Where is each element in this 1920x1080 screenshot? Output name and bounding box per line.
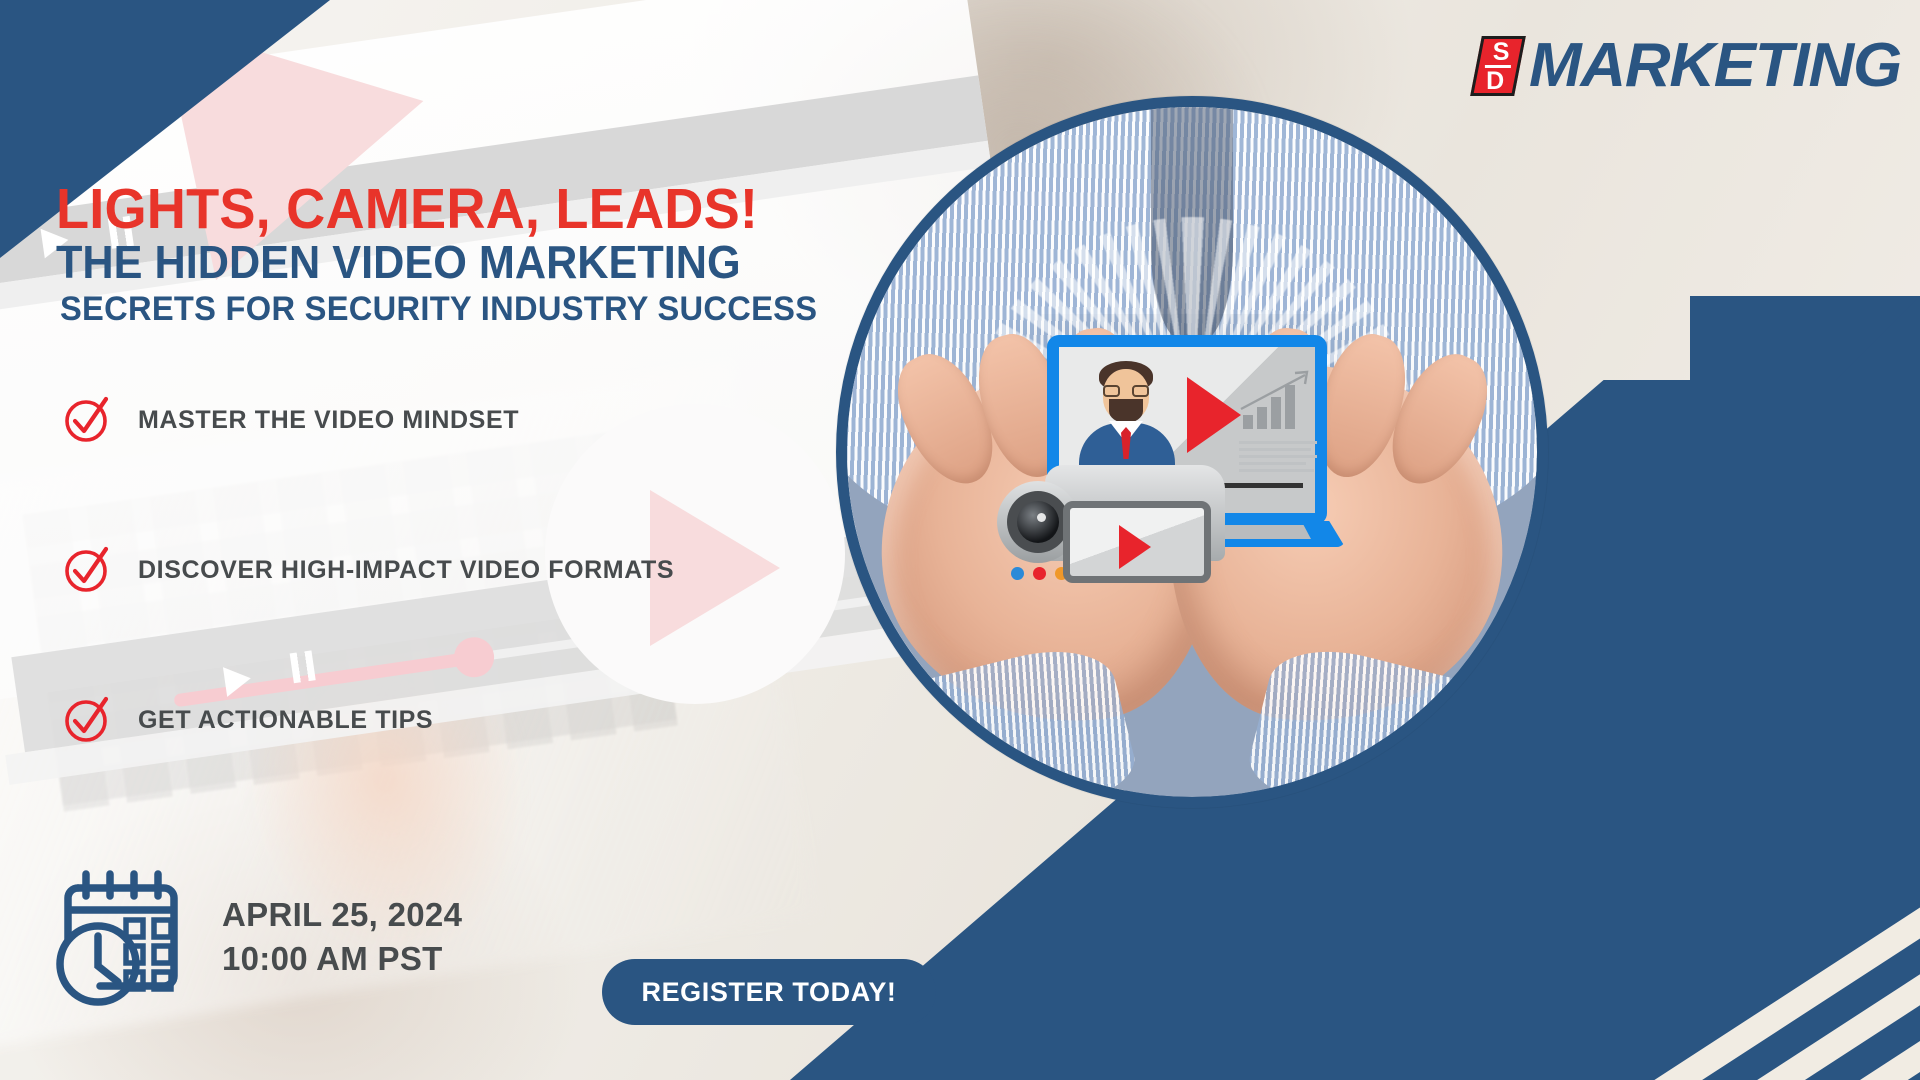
event-time: 10:00 AM PST	[222, 937, 462, 981]
headline-secondary: THE HIDDEN VIDEO MARKETING	[56, 239, 741, 285]
event-datetime: APRIL 25, 2024 10:00 AM PST	[48, 862, 462, 1012]
list-item-label: MASTER THE VIDEO MINDSET	[138, 406, 519, 435]
badge-letter-bottom: D	[1487, 68, 1505, 92]
brand-wordmark: MARKETING	[1529, 30, 1901, 101]
register-button[interactable]: REGISTER TODAY!	[602, 959, 936, 1025]
list-item-label: GET ACTIONABLE TIPS	[138, 706, 433, 735]
headline-primary: LIGHTS, CAMERA, LEADS!	[56, 181, 758, 238]
camcorder-button-blue	[1011, 567, 1024, 580]
calendar-clock-icon	[48, 862, 198, 1012]
hero-circle-frame	[836, 96, 1548, 808]
list-item: DISCOVER HIGH-IMPACT VIDEO FORMATS	[62, 532, 822, 608]
text-lines	[1239, 441, 1317, 476]
lens-glint	[1037, 513, 1046, 522]
list-item: GET ACTIONABLE TIPS	[62, 682, 822, 758]
poster-canvas: LIGHTS, CAMERA, LEADS! THE HIDDEN VIDEO …	[0, 0, 1920, 1080]
hands-photo	[847, 107, 1537, 797]
camcorder-lens-inner	[1017, 501, 1059, 543]
brand-logo: S D MARKETING	[1476, 30, 1894, 101]
list-item: MASTER THE VIDEO MINDSET	[62, 382, 822, 458]
list-item-label: DISCOVER HIGH-IMPACT VIDEO FORMATS	[138, 556, 674, 585]
headline-tertiary: SECRETS FOR SECURITY INDUSTRY SUCCESS	[60, 292, 817, 326]
event-datetime-text: APRIL 25, 2024 10:00 AM PST	[222, 893, 462, 980]
benefits-list: MASTER THE VIDEO MINDSET DISCOVER HIGH-I…	[62, 382, 822, 832]
check-circle-icon	[62, 395, 112, 445]
lens	[1103, 385, 1120, 397]
check-circle-icon	[62, 545, 112, 595]
glasses-icon	[1103, 385, 1149, 397]
lens	[1132, 385, 1149, 397]
badge-letter-top: S	[1493, 39, 1510, 63]
trend-arrow-icon	[1239, 369, 1313, 411]
camcorder-icon	[997, 455, 1227, 585]
sd-badge-icon: S D	[1471, 36, 1527, 96]
event-date: APRIL 25, 2024	[222, 893, 462, 937]
check-circle-icon	[62, 695, 112, 745]
play-triangle-icon	[1187, 377, 1241, 453]
presenter-beard	[1109, 399, 1143, 423]
camcorder-button-red	[1033, 567, 1046, 580]
play-triangle-icon	[1119, 525, 1151, 569]
